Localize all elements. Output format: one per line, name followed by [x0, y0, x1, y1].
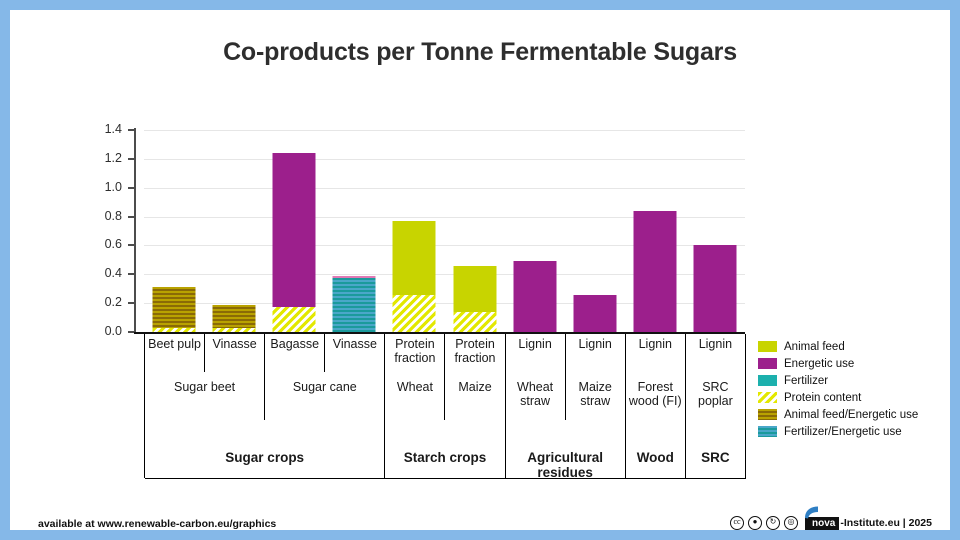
legend-item-c-feed-energetic[interactable]: Animal feed/Energetic use [758, 406, 943, 423]
category-cell: Wood [626, 420, 686, 478]
y-tick [128, 187, 135, 189]
bar-segment [153, 287, 196, 327]
legend-swatch-icon [758, 409, 777, 420]
category-cell: Beet pulp [145, 334, 205, 372]
legend-label: Animal feed [784, 341, 845, 353]
bar-segment [273, 153, 316, 307]
category-table: Beet pulpVinasseBagasseVinasseProtein fr… [144, 334, 746, 478]
by-icon: ● [748, 516, 762, 530]
y-tick-label: 1.0 [82, 180, 122, 194]
bar-segment [453, 312, 496, 332]
y-tick [128, 302, 135, 304]
category-cell: Wheat straw [506, 372, 566, 420]
bar-slot-bagasse[interactable] [264, 130, 324, 332]
bar-lignin-wheat-straw[interactable] [513, 261, 556, 332]
category-row-row1: Beet pulpVinasseBagasseVinasseProtein fr… [145, 334, 746, 372]
y-tick-label: 0.8 [82, 209, 122, 223]
category-cell: Forest wood (FI) [626, 372, 686, 420]
legend-swatch-icon [758, 375, 777, 386]
y-tick-label: 0.0 [82, 324, 122, 338]
footer-source-text: available at www.renewable-carbon.eu/gra… [38, 518, 276, 530]
bar-vinasse-beet[interactable] [213, 305, 256, 332]
category-cell: Lignin [506, 334, 566, 372]
bar-slot-lignin-wheat-straw[interactable] [505, 130, 565, 332]
cc-icon: cc [730, 516, 744, 530]
category-cell: Vinasse [205, 334, 265, 372]
category-cell: Maize [445, 372, 505, 420]
bar-slot-protein-fraction-maize[interactable] [445, 130, 505, 332]
bar-beet-pulp[interactable] [153, 287, 196, 332]
bar-segment [273, 307, 316, 332]
bar-segment [213, 305, 256, 328]
bar-vinasse-cane[interactable] [333, 276, 376, 332]
y-tick [128, 216, 135, 218]
bar-lignin-maize-straw[interactable] [573, 295, 616, 333]
nova-institute-logo: nova -Institute.eu | 2025 [805, 517, 932, 530]
category-cell: Sugar beet [145, 372, 265, 420]
bar-segment [153, 328, 196, 332]
category-cell: SRC [686, 420, 746, 478]
y-tick [128, 273, 135, 275]
category-cell: Wheat [385, 372, 445, 420]
y-tick-label: 1.2 [82, 151, 122, 165]
legend-swatch-icon [758, 341, 777, 352]
bar-slot-vinasse-cane[interactable] [324, 130, 384, 332]
legend-item-c-fert[interactable]: Fertilizer [758, 372, 943, 389]
bar-protein-fraction-wheat[interactable] [393, 221, 436, 332]
legend-item-c-feed[interactable]: Animal feed [758, 338, 943, 355]
bar-protein-fraction-maize[interactable] [453, 266, 496, 332]
legend-item-c-protein[interactable]: Protein content [758, 389, 943, 406]
bar-lignin-src-poplar[interactable] [693, 245, 736, 332]
category-cell: Protein fraction [445, 334, 505, 372]
chart-legend: Animal feedEnergetic useFertilizerProtei… [758, 338, 943, 440]
legend-label: Protein content [784, 392, 861, 404]
legend-label: Animal feed/Energetic use [784, 409, 918, 421]
chart-card: Co-products per Tonne Fermentable Sugars… [10, 10, 950, 530]
category-cell: Lignin [566, 334, 626, 372]
category-cell: Sugar cane [265, 372, 385, 420]
category-cell: Starch crops [385, 420, 505, 478]
category-cell: Agricultural residues [506, 420, 626, 478]
legend-label: Fertilizer [784, 375, 828, 387]
bar-slot-lignin-forest-wood[interactable] [625, 130, 685, 332]
bar-segment [633, 211, 676, 332]
bar-series [144, 130, 745, 332]
sa-icon: ◎ [784, 516, 798, 530]
bar-segment [333, 276, 376, 332]
bar-slot-beet-pulp[interactable] [144, 130, 204, 332]
y-tick-label: 0.4 [82, 266, 122, 280]
legend-swatch-icon [758, 358, 777, 369]
category-cell: Sugar crops [145, 420, 385, 478]
bar-slot-protein-fraction-wheat[interactable] [384, 130, 444, 332]
nova-swoosh-icon [804, 506, 819, 519]
bar-segment [513, 261, 556, 332]
category-cell: Protein fraction [385, 334, 445, 372]
bar-bagasse[interactable] [273, 153, 316, 332]
bar-segment [573, 295, 616, 333]
y-tick [128, 129, 135, 131]
category-cell: Bagasse [265, 334, 325, 372]
bar-slot-vinasse-beet[interactable] [204, 130, 264, 332]
category-cell: Lignin [626, 334, 686, 372]
nd-icon: ↻ [766, 516, 780, 530]
bar-segment [693, 245, 736, 332]
nova-institute-text: -Institute.eu | 2025 [840, 517, 932, 529]
bar-segment [213, 328, 256, 332]
chart-canvas: t co-product (dry matter) / t fermentabl… [10, 10, 950, 530]
y-tick-label: 0.6 [82, 237, 122, 251]
category-cell: Maize straw [566, 372, 626, 420]
category-row-row3: Sugar cropsStarch cropsAgricultural resi… [145, 420, 746, 478]
legend-swatch-icon [758, 426, 777, 437]
bar-lignin-forest-wood[interactable] [633, 211, 676, 332]
bar-segment [453, 266, 496, 312]
y-tick [128, 244, 135, 246]
legend-swatch-icon [758, 392, 777, 403]
y-tick [128, 158, 135, 160]
y-tick-label: 0.2 [82, 295, 122, 309]
category-cell: Vinasse [325, 334, 385, 372]
footer-attribution: cc ● ↻ ◎ nova -Institute.eu | 2025 [730, 516, 932, 530]
legend-item-c-fert-energetic[interactable]: Fertilizer/Energetic use [758, 423, 943, 440]
bar-slot-lignin-src-poplar[interactable] [685, 130, 745, 332]
category-cell: Lignin [686, 334, 746, 372]
legend-item-c-energetic[interactable]: Energetic use [758, 355, 943, 372]
bar-segment [393, 295, 436, 333]
y-tick-label: 1.4 [82, 122, 122, 136]
bar-slot-lignin-maize-straw[interactable] [565, 130, 625, 332]
legend-label: Energetic use [784, 358, 854, 370]
bar-segment [393, 221, 436, 295]
category-cell: SRC poplar [686, 372, 746, 420]
category-row-row2: Sugar beetSugar caneWheatMaizeWheat stra… [145, 372, 746, 420]
legend-label: Fertilizer/Energetic use [784, 426, 902, 438]
